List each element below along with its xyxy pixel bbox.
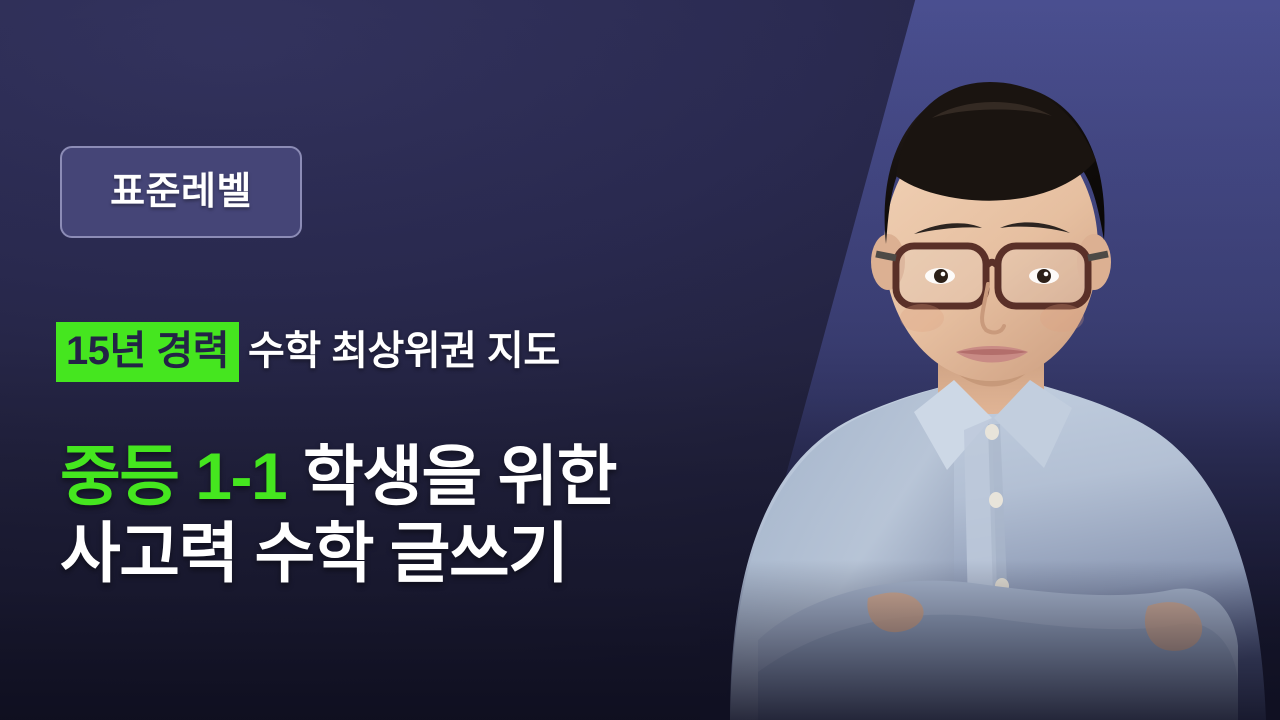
headline-line-2: 사고력 수학 글쓰기 xyxy=(60,515,820,592)
subtitle-text: 수학 최상위권 지도 xyxy=(239,331,560,371)
thumbnail-canvas: 표준레벨 15년 경력 수학 최상위권 지도 중등 1-1 학생을 위한 사고력… xyxy=(0,0,1280,720)
text-content: 표준레벨 15년 경력 수학 최상위권 지도 중등 1-1 학생을 위한 사고력… xyxy=(60,0,820,720)
page-title: 중등 1-1 학생을 위한 사고력 수학 글쓰기 xyxy=(60,438,820,591)
headline-line-1: 중등 1-1 학생을 위한 xyxy=(60,438,820,515)
subtitle-highlight-experience: 15년 경력 xyxy=(56,322,239,382)
level-badge-label: 표준레벨 xyxy=(110,173,252,211)
level-badge: 표준레벨 xyxy=(60,146,302,238)
headline-grade-accent: 중등 1-1 xyxy=(60,439,286,513)
subtitle: 15년 경력 수학 최상위권 지도 xyxy=(56,322,560,382)
headline-line-1-rest: 학생을 위한 xyxy=(286,439,616,513)
